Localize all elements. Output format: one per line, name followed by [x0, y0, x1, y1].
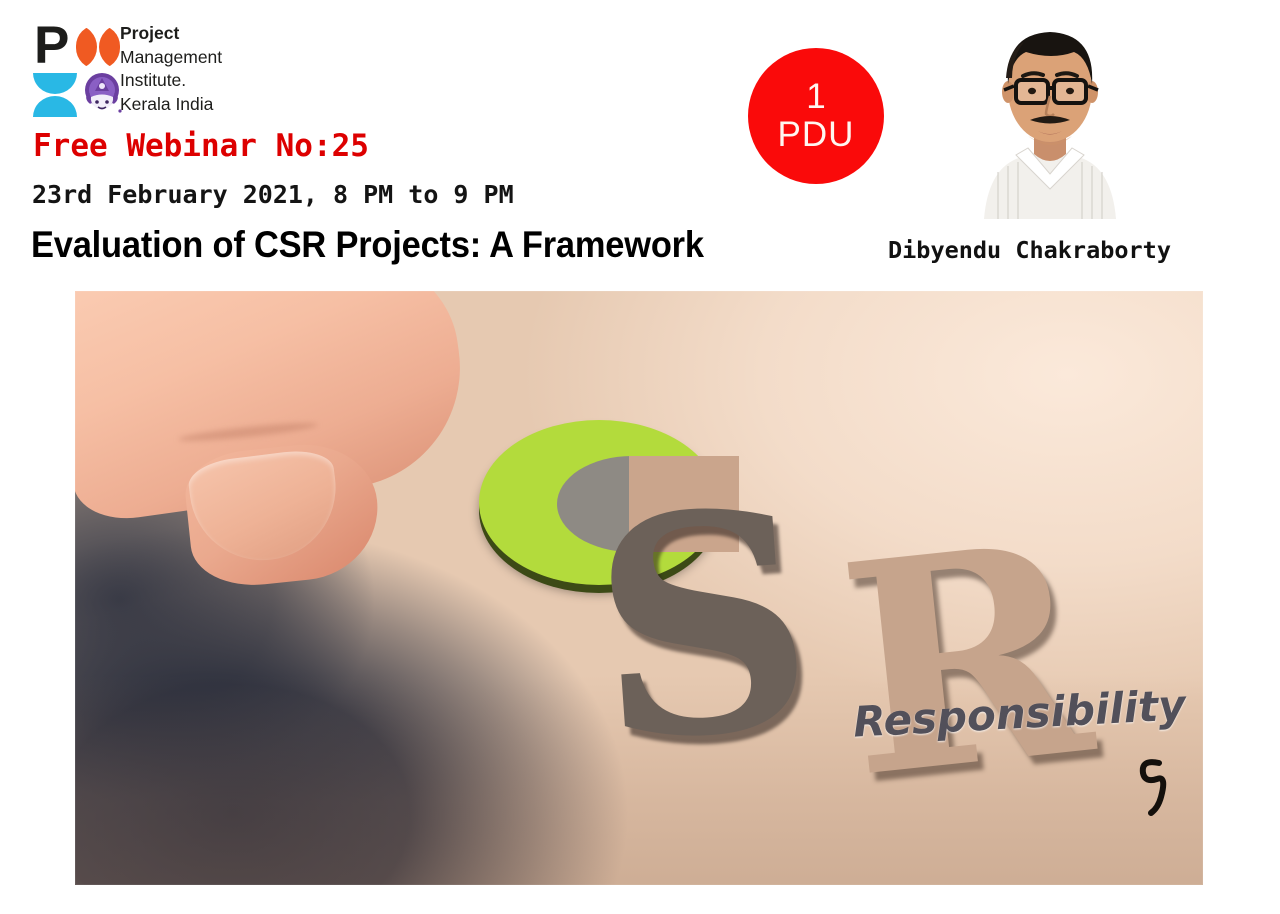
letter-r-block: R — [831, 504, 1101, 818]
pmi-letter-p-icon: P — [34, 24, 76, 70]
pmi-orange-bowtie-icon — [76, 25, 120, 69]
bowtie-half-right — [33, 96, 77, 117]
kerala-chapter-emblem-icon — [80, 71, 124, 117]
wordmark-line-project: Project — [120, 22, 270, 46]
bowtie-half-left — [76, 25, 97, 69]
speaker-portrait-illustration — [968, 12, 1132, 219]
pmi-wordmark: Project Management Institute. Kerala Ind… — [120, 22, 270, 116]
bowtie-half-left — [33, 73, 77, 94]
pdu-badge: 1 PDU — [748, 48, 884, 184]
webinar-date-time: 23rd February 2021, 8 PM to 9 PM — [32, 180, 514, 209]
letter-s-block: S — [585, 469, 822, 783]
bowtie-half-right — [99, 25, 120, 69]
csr-hero-image: S R Responsibility Corporate Social — [75, 291, 1203, 885]
wordmark-line-institute: Institute. — [120, 69, 270, 93]
page-title: Evaluation of CSR Projects: A Framework — [31, 224, 704, 266]
pmi-logo-mark: P — [32, 24, 122, 116]
wordmark-line-management: Management — [120, 46, 270, 70]
pdu-unit-label: PDU — [778, 116, 855, 154]
wordmark-line-chapter: Kerala India — [120, 93, 270, 117]
speaker-portrait — [968, 12, 1132, 219]
webinar-number-label: Free Webinar No:25 — [33, 128, 369, 164]
pmi-cyan-bowtie-icon — [33, 73, 77, 117]
speaker-name: Dibyendu Chakraborty — [888, 236, 1171, 264]
pmi-kerala-logo: P Project Management Institute. Kerala — [32, 22, 262, 118]
pdu-count: 1 — [806, 78, 825, 116]
hand-placing-piece — [75, 291, 490, 609]
curl-arrow-responsibility-icon — [1115, 753, 1175, 817]
